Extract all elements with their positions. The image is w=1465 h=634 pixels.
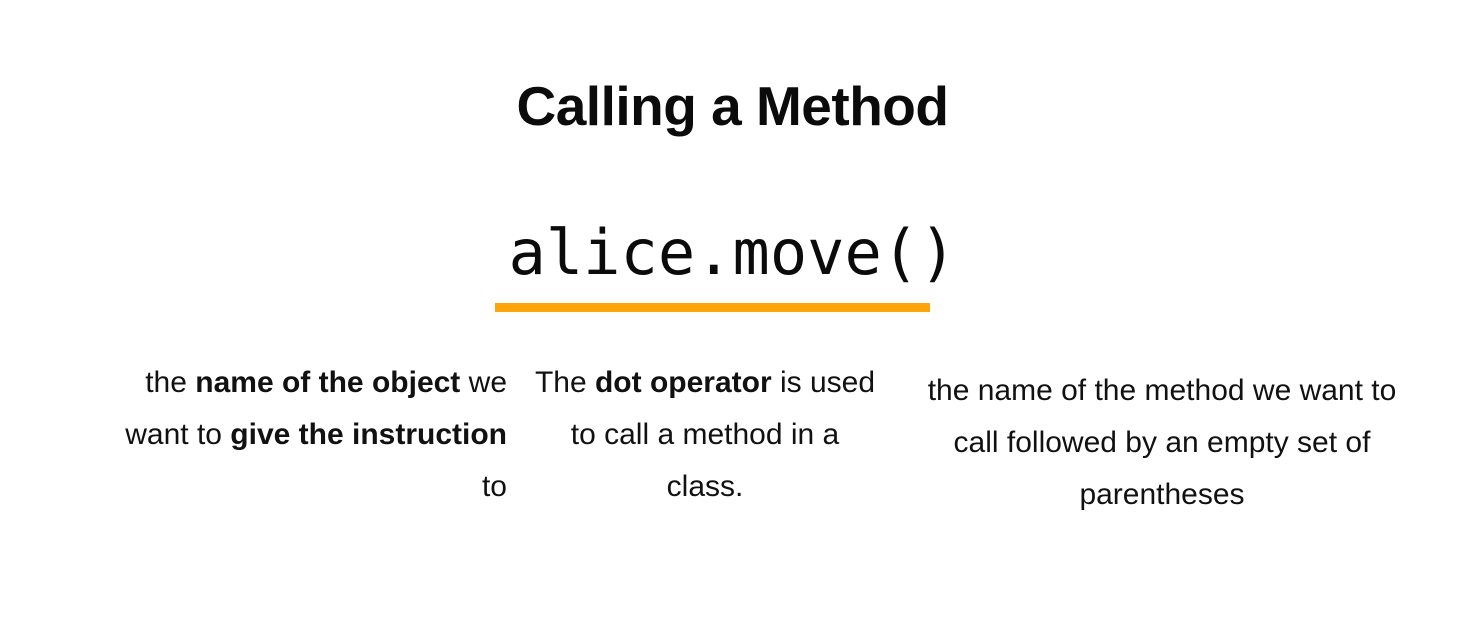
slide-canvas: Calling a Method alice.move() the name o… [0, 0, 1465, 634]
page-title: Calling a Method [0, 75, 1465, 138]
caption-object-name: the name of the object we want to give t… [95, 357, 507, 513]
emphasis-text: give the instruction [230, 418, 507, 451]
caption-row: the name of the object we want to give t… [0, 352, 1465, 532]
caption-method-name: the name of the method we want to call f… [916, 365, 1408, 521]
plain-text: The [535, 366, 595, 399]
plain-text: the name of the method we want to call f… [928, 374, 1397, 511]
plain-text: to [482, 470, 507, 503]
code-underline-accent [495, 303, 930, 312]
emphasis-text: name of the object [195, 366, 460, 399]
code-expression: alice.move() [507, 222, 959, 284]
code-sample: alice.move() [0, 222, 1465, 284]
plain-text: the [145, 366, 195, 399]
caption-dot-operator: The dot operator is used to call a metho… [530, 357, 880, 513]
emphasis-text: dot operator [595, 366, 772, 399]
